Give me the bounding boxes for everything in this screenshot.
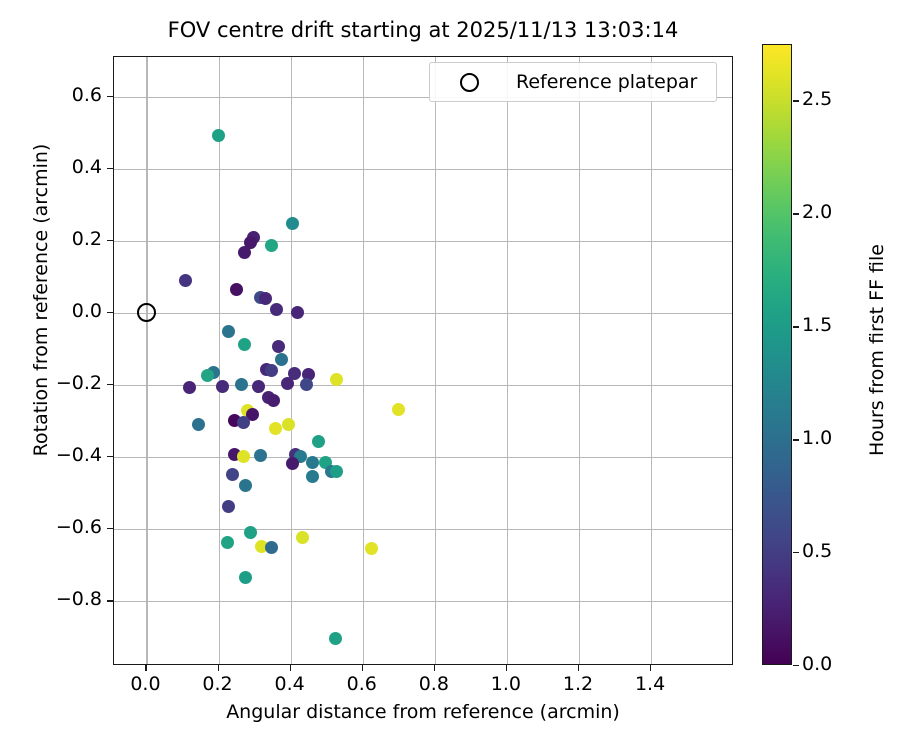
x-tick-label: 1.0 [471,673,541,695]
gridline-horizontal [114,241,732,242]
scatter-point [282,418,295,431]
x-tick-label: 0.6 [327,673,397,695]
gridline-vertical [651,57,652,664]
x-tick [145,665,146,671]
gridline-vertical [363,57,364,664]
scatter-point [216,380,229,393]
scatter-point [239,571,252,584]
scatter-point [230,283,243,296]
x-tick [650,665,651,671]
legend[interactable]: Reference platepar [429,62,717,102]
gridline-horizontal [114,457,732,458]
scatter-point [272,340,285,353]
gridline-horizontal [114,529,732,530]
x-tick [506,665,507,671]
scatter-point [238,338,251,351]
scatter-point [201,369,214,382]
colorbar-label: Hours from first FF file [866,40,888,660]
scatter-point [265,541,278,554]
colorbar-tick-label: 1.5 [802,314,832,336]
y-tick [107,384,113,385]
scatter-point [221,536,234,549]
x-tick [362,665,363,671]
scatter-point [267,394,280,407]
colorbar-tick [793,100,799,101]
y-tick [107,312,113,313]
x-tick-label: 0.4 [255,673,325,695]
x-tick-label: 0.2 [183,673,253,695]
x-tick [218,665,219,671]
scatter-point [330,465,343,478]
scatter-point [212,129,225,142]
colorbar-tick-label: 2.5 [802,88,832,110]
scatter-point [179,274,192,287]
scatter-point [300,378,313,391]
scatter-point [392,403,405,416]
scatter-point [296,531,309,544]
scatter-point [265,239,278,252]
scatter-point [238,246,251,259]
colorbar [762,44,792,665]
gridline-vertical [579,57,580,664]
y-tick [107,456,113,457]
scatter-point [330,373,343,386]
scatter-point [265,364,278,377]
scatter-point [291,306,304,319]
scatter-point [281,377,294,390]
scatter-point [192,418,205,431]
gridline-vertical [435,57,436,664]
gridline-horizontal [114,169,732,170]
x-tick [578,665,579,671]
scatter-point [237,416,250,429]
gridline-vertical [507,57,508,664]
legend-label: Reference platepar [516,71,697,93]
scatter-point [312,435,325,448]
gridline-vertical [146,57,147,664]
scatter-point [259,292,272,305]
y-tick [107,96,113,97]
x-tick-label: 0.0 [110,673,180,695]
gridline-horizontal [114,313,732,314]
y-tick [107,528,113,529]
colorbar-tick [793,326,799,327]
x-tick-label: 1.4 [615,673,685,695]
x-tick [290,665,291,671]
x-tick-label: 1.2 [543,673,613,695]
scatter-point [239,479,252,492]
reference-platepar-marker-icon [137,303,156,322]
scatter-point [365,542,378,555]
scatter-point [222,500,235,513]
gridline-vertical [219,57,220,664]
scatter-point [226,468,239,481]
y-axis-label: Rotation from reference (arcmin) [30,0,52,600]
gridline-horizontal [114,385,732,386]
legend-reference-marker-icon [460,73,479,92]
gridline-vertical [291,57,292,664]
scatter-point [269,422,282,435]
y-tick [107,168,113,169]
y-tick [107,240,113,241]
scatter-point [329,632,342,645]
scatter-point [235,378,248,391]
colorbar-tick-label: 1.0 [802,427,832,449]
x-axis-label: Angular distance from reference (arcmin) [113,701,733,723]
y-tick [107,600,113,601]
figure-canvas: FOV centre drift starting at 2025/11/13 … [0,0,900,750]
colorbar-tick [793,552,799,553]
colorbar-tick [793,665,799,666]
x-tick [434,665,435,671]
scatter-plot-axes [113,56,733,665]
scatter-point [286,457,299,470]
colorbar-tick-label: 2.0 [802,201,832,223]
scatter-point [252,380,265,393]
scatter-point [306,470,319,483]
scatter-point [244,526,257,539]
scatter-point [222,325,235,338]
x-tick-label: 0.8 [399,673,469,695]
scatter-point [237,450,250,463]
scatter-point [270,303,283,316]
scatter-point [275,353,288,366]
scatter-point [183,381,196,394]
scatter-point [286,217,299,230]
colorbar-tick-label: 0.0 [802,653,832,675]
gridline-horizontal [114,601,732,602]
scatter-point [254,449,267,462]
scatter-point [306,456,319,469]
colorbar-tick [793,213,799,214]
colorbar-tick-label: 0.5 [802,540,832,562]
page-title: FOV centre drift starting at 2025/11/13 … [113,18,733,42]
colorbar-tick [793,439,799,440]
